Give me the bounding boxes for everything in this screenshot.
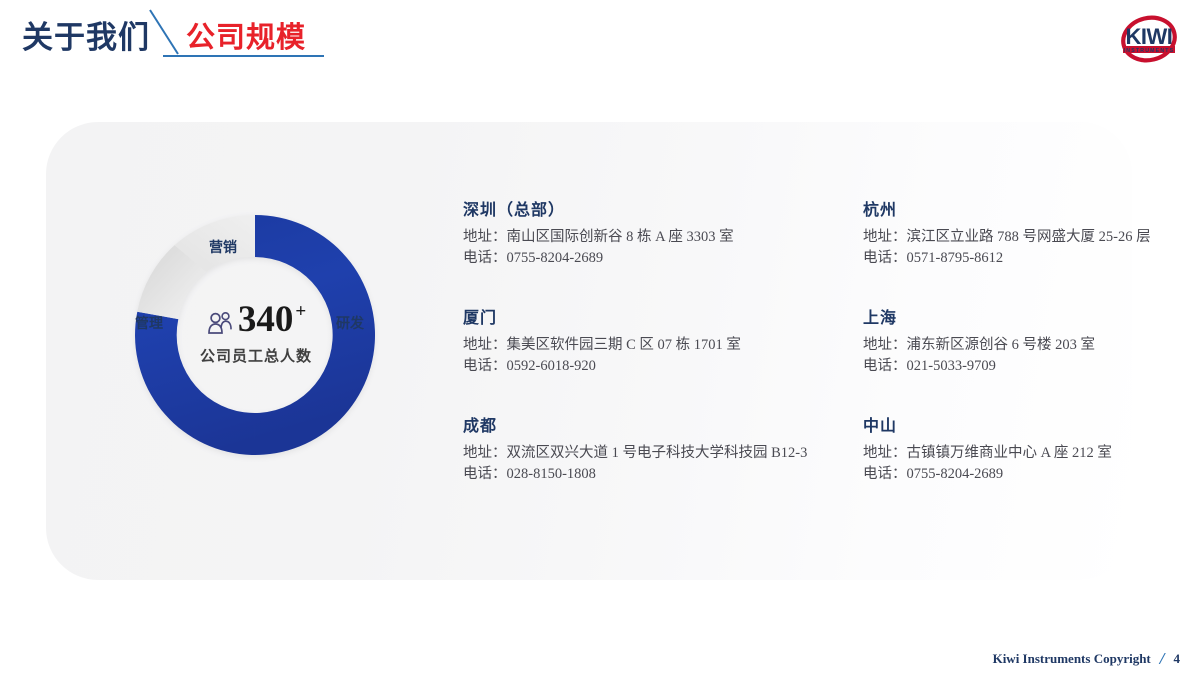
office-phone: 电话：0755-8204-2689 — [463, 248, 853, 269]
people-icon — [206, 309, 236, 339]
donut-label-marketing: 营销 — [209, 237, 237, 257]
section-subtitle: 公司规模 — [186, 14, 306, 56]
office-entry-chengdu: 成都 地址：双流区双兴大道 1 号电子科技大学科技园 B12-3 电话：028-… — [463, 412, 853, 485]
office-address: 地址：滨江区立业路 788 号网盛大厦 25-26 层 — [863, 227, 1163, 248]
slide-footer: Kiwi Instruments Copyright / 4 — [993, 649, 1180, 669]
office-column-right: 杭州 地址：滨江区立业路 788 号网盛大厦 25-26 层 电话：0571-8… — [863, 196, 1163, 520]
office-address: 地址：南山区国际创新谷 8 栋 A 座 3303 室 — [463, 227, 853, 248]
office-address: 地址：集美区软件园三期 C 区 07 栋 1701 室 — [463, 335, 853, 356]
office-address: 地址：古镇镇万维商业中心 A 座 212 室 — [863, 443, 1163, 464]
office-city-name: 杭州 — [863, 196, 1163, 220]
office-entry-shenzhen: 深圳（总部） 地址：南山区国际创新谷 8 栋 A 座 3303 室 电话：075… — [463, 196, 853, 269]
office-address: 地址：浦东新区源创谷 6 号楼 203 室 — [863, 335, 1163, 356]
office-phone: 电话：0592-6018-920 — [463, 356, 853, 377]
footer-separator: / — [1160, 649, 1165, 669]
office-city-name: 厦门 — [463, 304, 853, 328]
office-phone: 电话：0571-8795-8612 — [863, 248, 1163, 269]
title-underline — [163, 55, 324, 57]
employee-count-suffix: + — [295, 302, 306, 322]
slide-header: 关于我们 公司规模 — [0, 0, 1200, 80]
svg-text:KIWI: KIWI — [1126, 24, 1173, 49]
office-entry-zhongshan: 中山 地址：古镇镇万维商业中心 A 座 212 室 电话：0755-8204-2… — [863, 412, 1163, 485]
office-phone: 电话：021-5033-9709 — [863, 356, 1163, 377]
office-address: 地址：双流区双兴大道 1 号电子科技大学科技园 B12-3 — [463, 443, 853, 464]
office-city-name: 深圳（总部） — [463, 196, 853, 220]
diagonal-divider-icon — [148, 8, 184, 58]
brand-logo: KIWI INSTRUMENTS — [1110, 8, 1188, 70]
office-entry-xiamen: 厦门 地址：集美区软件园三期 C 区 07 栋 1701 室 电话：0592-6… — [463, 304, 853, 377]
footer-copyright: Kiwi Instruments Copyright — [993, 651, 1151, 667]
donut-label-management: 管理 — [135, 313, 163, 333]
svg-text:INSTRUMENTS: INSTRUMENTS — [1124, 48, 1175, 54]
office-city-name: 上海 — [863, 304, 1163, 328]
office-phone: 电话：028-8150-1808 — [463, 464, 853, 485]
office-city-name: 中山 — [863, 412, 1163, 436]
office-entry-shanghai: 上海 地址：浦东新区源创谷 6 号楼 203 室 电话：021-5033-970… — [863, 304, 1163, 377]
office-phone: 电话：0755-8204-2689 — [863, 464, 1163, 485]
employee-count: 340 — [238, 300, 294, 340]
office-entry-hangzhou: 杭州 地址：滨江区立业路 788 号网盛大厦 25-26 层 电话：0571-8… — [863, 196, 1163, 269]
employee-count-caption: 公司员工总人数 — [175, 345, 337, 366]
office-city-name: 成都 — [463, 412, 853, 436]
donut-label-rd: 研发 — [336, 313, 364, 333]
page-number: 4 — [1174, 651, 1181, 667]
donut-center-summary: 340 + 公司员工总人数 — [175, 300, 337, 390]
office-column-left: 深圳（总部） 地址：南山区国际创新谷 8 栋 A 座 3303 室 电话：075… — [463, 196, 853, 520]
page-title: 关于我们 — [22, 12, 150, 57]
